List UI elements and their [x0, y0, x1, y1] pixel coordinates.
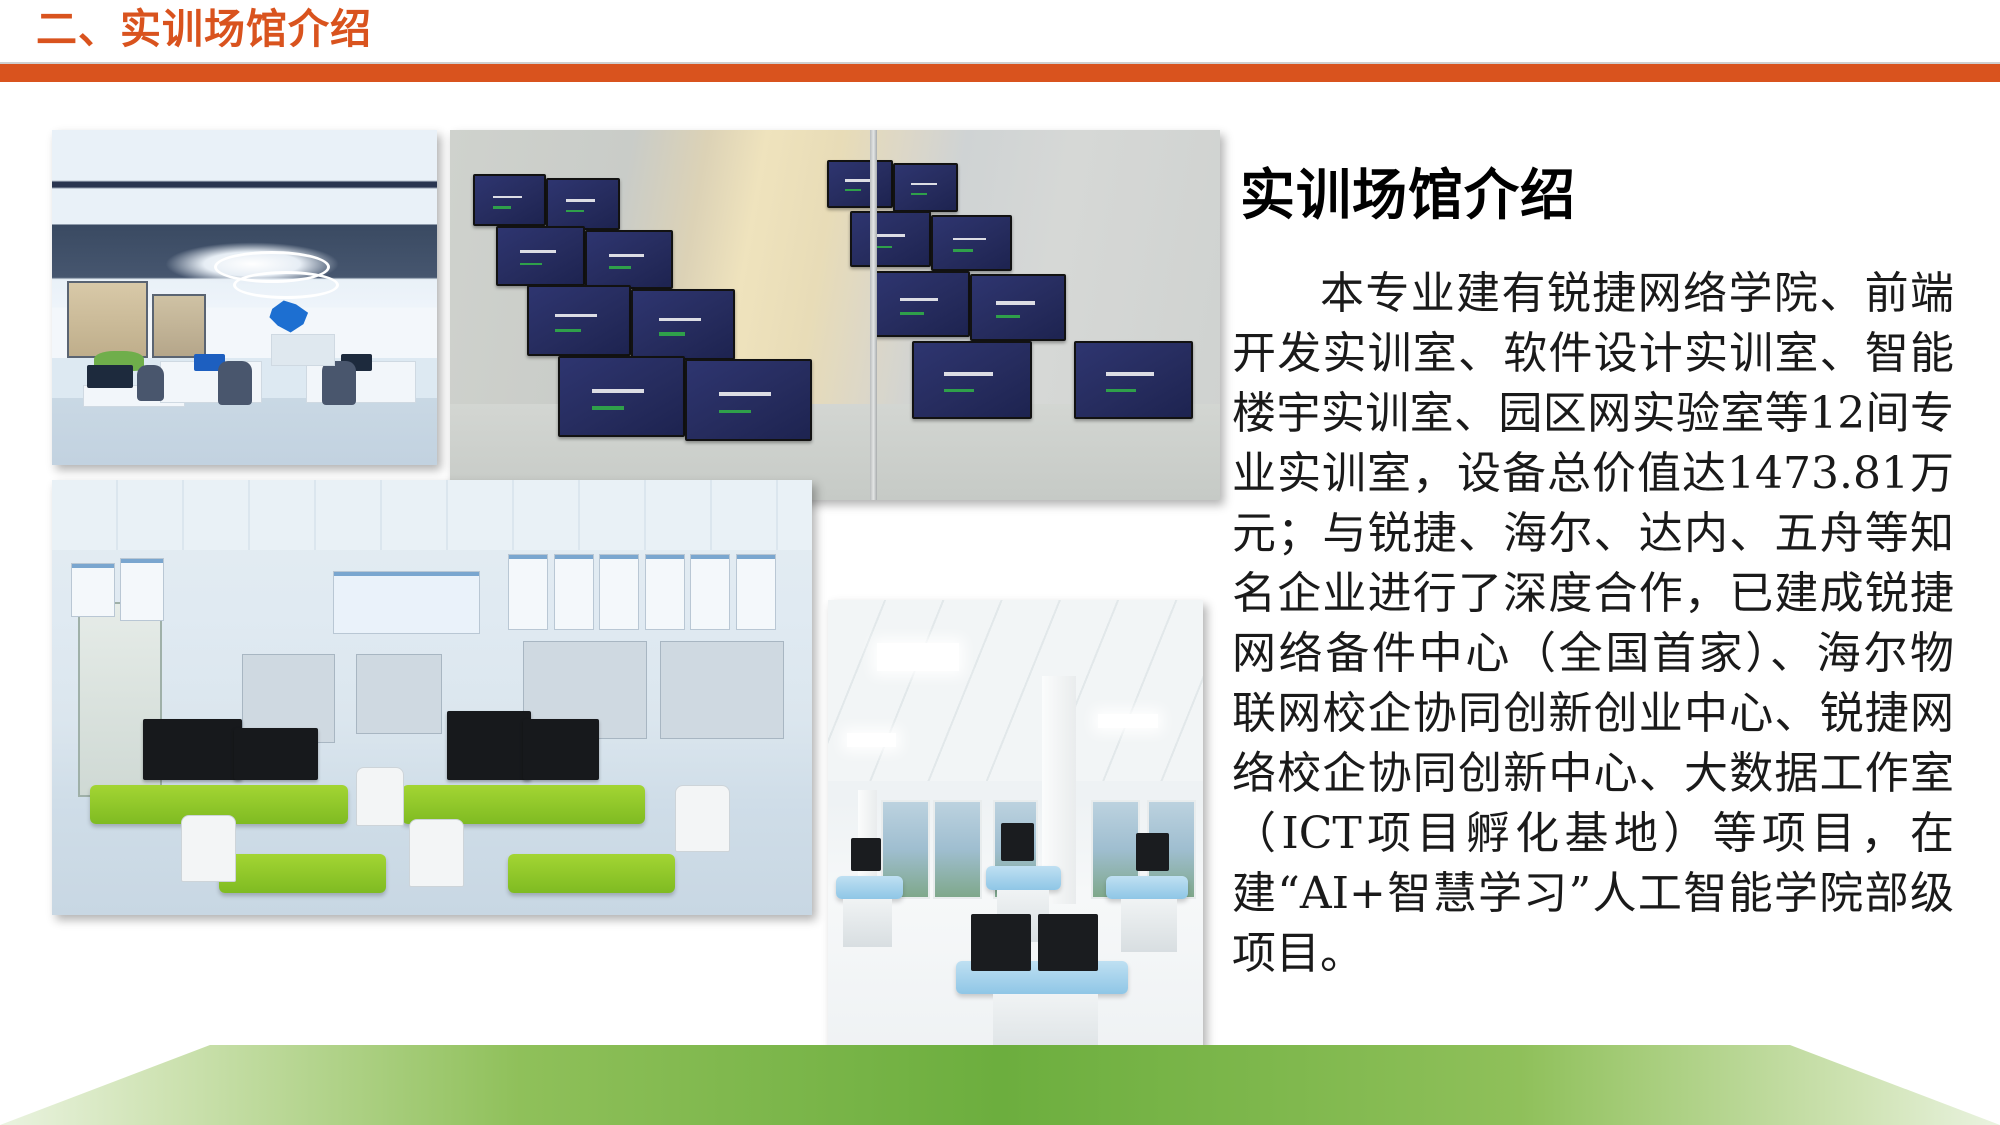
photo-lab-control-room — [52, 130, 437, 465]
wall-poster-8 — [736, 554, 776, 630]
monitor-a — [851, 838, 881, 871]
green-worktable-front-right — [508, 854, 675, 893]
wall-poster-4 — [554, 554, 594, 630]
chair-a — [356, 767, 404, 826]
footer-decoration — [0, 1045, 2000, 1125]
footer-green-trapezoid — [0, 1045, 2000, 1125]
window-mid — [152, 294, 206, 358]
workstation-base-a — [843, 899, 892, 947]
chair-mid — [218, 361, 253, 405]
equipment-rack-far-right — [660, 641, 784, 739]
monitor-row3-a — [527, 285, 631, 356]
wall-info-board — [333, 571, 479, 634]
slide-header: 二、实训场馆介绍 — [0, 0, 2000, 100]
photo-bright-lab-image — [828, 600, 1203, 1075]
chair-right — [322, 361, 357, 405]
content-paragraph: 本专业建有锐捷网络学院、前端开发实训室、软件设计实训室、智能楼宇实训室、园区网实… — [1232, 264, 1954, 984]
monitor-front — [87, 365, 133, 388]
photo-bright-lab — [828, 600, 1203, 1075]
monitor-far-d — [931, 215, 1012, 271]
wall-poster-2 — [120, 558, 164, 621]
monitor-front-a — [971, 914, 1031, 971]
equipment-rack — [271, 334, 335, 366]
green-worktable-front — [219, 854, 386, 893]
chair-d — [675, 785, 730, 852]
ceiling-lamp-c — [1098, 714, 1158, 728]
chair-b — [409, 819, 464, 886]
monitor-left-b — [234, 728, 318, 780]
monitor-row3-b — [631, 289, 735, 360]
monitor-far-h — [1074, 341, 1194, 419]
monitor-far-g — [912, 341, 1032, 419]
monitor-row4-b — [685, 359, 812, 441]
photo-computer-classroom-image — [450, 130, 1220, 500]
monitor-c — [1136, 833, 1170, 871]
workstation-pod-b — [986, 866, 1061, 890]
support-post — [870, 130, 877, 500]
window-left — [67, 281, 148, 359]
monitor-row1-b — [546, 178, 619, 230]
monitor-left-a — [143, 719, 242, 780]
wall-poster-6 — [645, 554, 685, 630]
ceiling-light-ring-inner-icon — [233, 271, 339, 299]
green-worktable-right — [402, 785, 645, 824]
ceiling-grid — [828, 600, 1203, 781]
monitor-far-f — [970, 274, 1066, 341]
workstation-pod-a — [836, 876, 904, 900]
photo-gallery — [0, 100, 1220, 1060]
monitor-far-a — [827, 160, 893, 208]
wall-poster-3 — [508, 554, 548, 630]
photo-training-lab — [52, 480, 812, 915]
workstation-pod-c — [1106, 876, 1189, 900]
monitor-far-e — [874, 271, 970, 338]
window-b — [933, 800, 982, 899]
monitor-front-b — [1038, 914, 1098, 971]
china-map-wall-graphic — [268, 298, 314, 336]
content-panel: 实训场馆介绍 本专业建有锐捷网络学院、前端开发实训室、软件设计实训室、智能楼宇实… — [1232, 160, 1972, 984]
monitor-mid-a — [447, 711, 531, 781]
wall-poster-1 — [71, 563, 115, 617]
monitor-far-b — [893, 163, 959, 211]
chair-c — [181, 815, 236, 882]
photo-computer-classroom — [450, 130, 1220, 500]
workstation-base-c — [1121, 899, 1177, 951]
monitor-b — [1001, 823, 1035, 861]
ceiling-lamp-b — [847, 733, 896, 747]
page-title: 二、实训场馆介绍 — [36, 0, 372, 60]
chair-left — [137, 365, 164, 402]
header-accent-bar — [0, 64, 2000, 82]
wall-poster-5 — [599, 554, 639, 630]
monitor-row2-b — [585, 230, 674, 290]
ceiling-lamp-a — [877, 643, 960, 672]
photo-lab-control-room-image — [52, 130, 437, 465]
equipment-rack-mid — [356, 654, 442, 734]
wall-poster-7 — [690, 554, 730, 630]
photo-training-lab-image — [52, 480, 812, 915]
monitor-row2-a — [496, 226, 585, 286]
monitor-row4-a — [558, 356, 685, 438]
content-heading: 实训场馆介绍 — [1240, 160, 1972, 230]
monitor-far-c — [850, 211, 931, 267]
ceiling-grid — [52, 480, 812, 550]
monitor-row1-a — [473, 174, 546, 226]
monitor-mid-b — [523, 719, 599, 780]
